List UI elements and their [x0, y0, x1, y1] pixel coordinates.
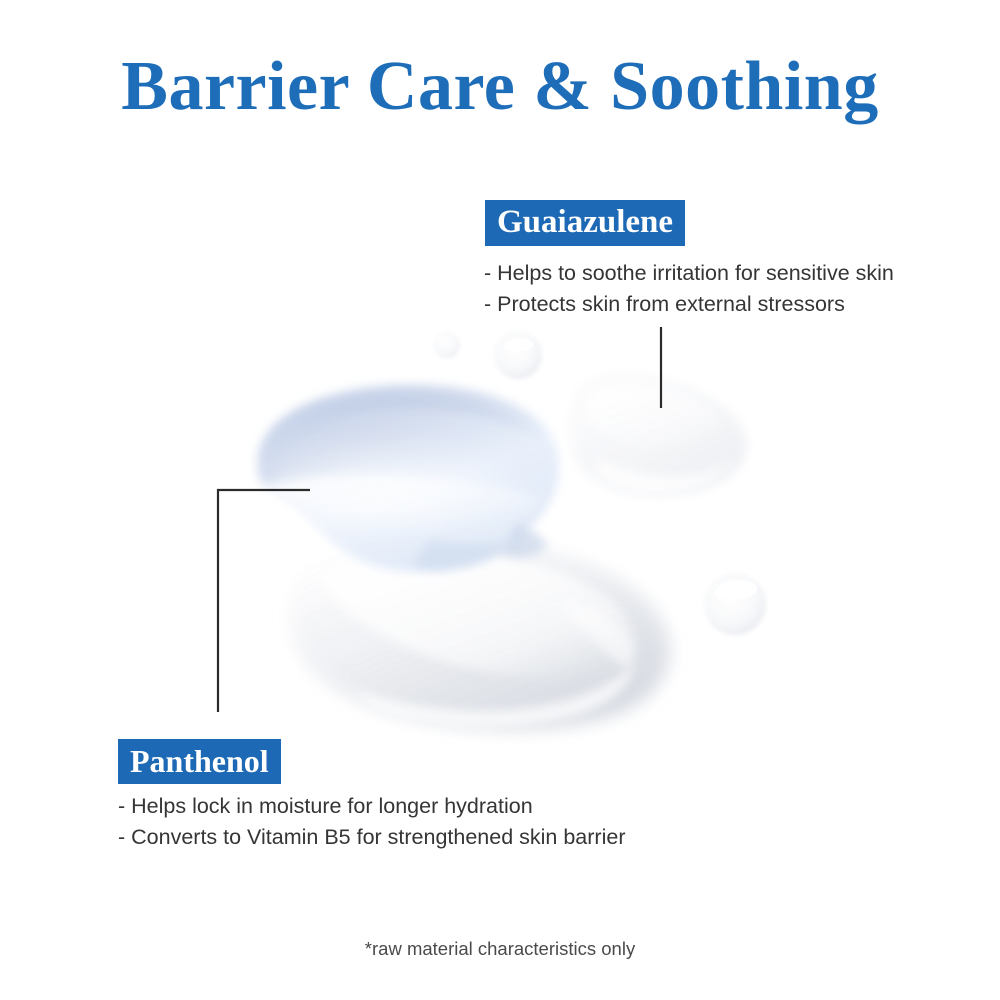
callout-badge-guaiazulene: Guaiazulene: [485, 200, 685, 246]
callout-badge-panthenol: Panthenol: [118, 739, 281, 784]
bullet-item: - Helps to soothe irritation for sensiti…: [484, 258, 894, 289]
white-cream-pool: [288, 535, 668, 727]
bullet-item: - Protects skin from external stressors: [484, 289, 894, 320]
infographic-canvas: Barrier Care & Soothing: [0, 0, 1000, 1000]
droplet-medium: [494, 331, 542, 379]
callout-bullets-panthenol: - Helps lock in moisture for longer hydr…: [118, 791, 625, 852]
droplet-large: [704, 573, 766, 635]
blue-cream-swatch: [258, 385, 560, 571]
bullet-item: - Helps lock in moisture for longer hydr…: [118, 791, 625, 822]
droplet-small: [434, 332, 460, 358]
footnote: *raw material characteristics only: [0, 938, 1000, 960]
bullet-item: - Converts to Vitamin B5 for strengthene…: [118, 822, 625, 853]
page-title: Barrier Care & Soothing: [0, 52, 1000, 122]
callout-bullets-guaiazulene: - Helps to soothe irritation for sensiti…: [484, 258, 894, 319]
clear-gel-swatch: [568, 372, 747, 496]
leader-line-panthenol: [218, 490, 310, 712]
